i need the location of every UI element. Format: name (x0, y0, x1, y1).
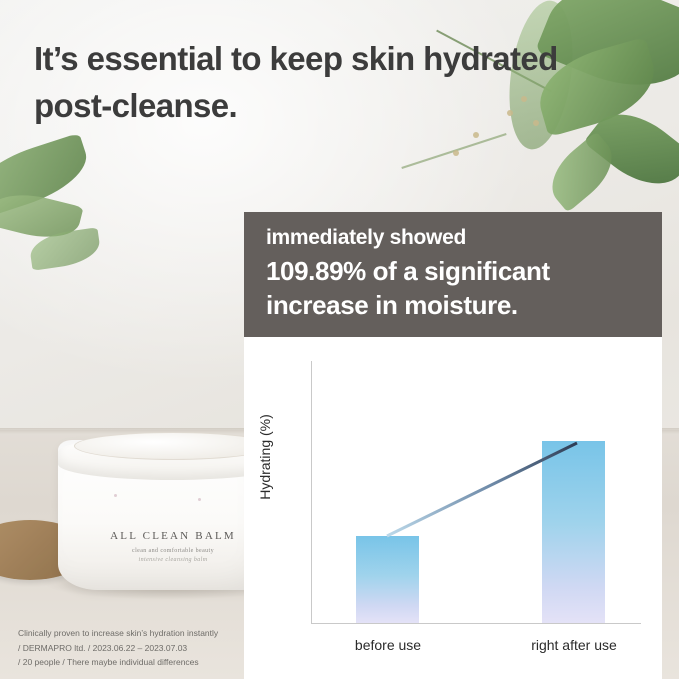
bar-before-use (356, 536, 419, 623)
chart-x-axis (311, 623, 641, 624)
chart-y-axis-label: Hydrating (%) (257, 382, 273, 532)
chart-x-tick-after: right after use (496, 637, 652, 653)
chart-y-axis (311, 361, 312, 623)
chart-x-tick-before: before use (318, 637, 458, 653)
footnote-line-2: / DERMAPRO ltd. / 2023.06.22 – 2023.07.0… (18, 641, 248, 656)
footnote: Clinically proven to increase skin’s hyd… (18, 626, 248, 670)
callout-line-2: 109.89% of a significant (266, 256, 644, 287)
footnote-line-3: / 20 people / There maybe individual dif… (18, 655, 248, 670)
label-speck (114, 494, 117, 497)
stat-callout: immediately showed 109.89% of a signific… (244, 212, 662, 337)
label-speck (198, 498, 201, 501)
callout-line-1: immediately showed (266, 226, 644, 250)
callout-line-3: increase in moisture. (266, 290, 644, 321)
product-brand-name: ALL CLEAN BALM (88, 530, 258, 542)
product-tagline-secondary: intensive cleansing balm (88, 557, 258, 563)
flower-bud-icon (453, 150, 459, 156)
flower-bud-icon (473, 132, 479, 138)
jar-lid-top (74, 432, 272, 460)
footnote-line-1: Clinically proven to increase skin’s hyd… (18, 626, 248, 641)
product-label: ALL CLEAN BALM clean and comfortable bea… (88, 530, 258, 588)
product-tagline-primary: clean and comfortable beauty (88, 548, 258, 554)
trend-line-icon (387, 441, 577, 538)
hydration-bar-chart: Hydrating (%) before use right after use (244, 337, 662, 679)
page-headline: It’s essential to keep skin hydrated pos… (34, 36, 594, 130)
